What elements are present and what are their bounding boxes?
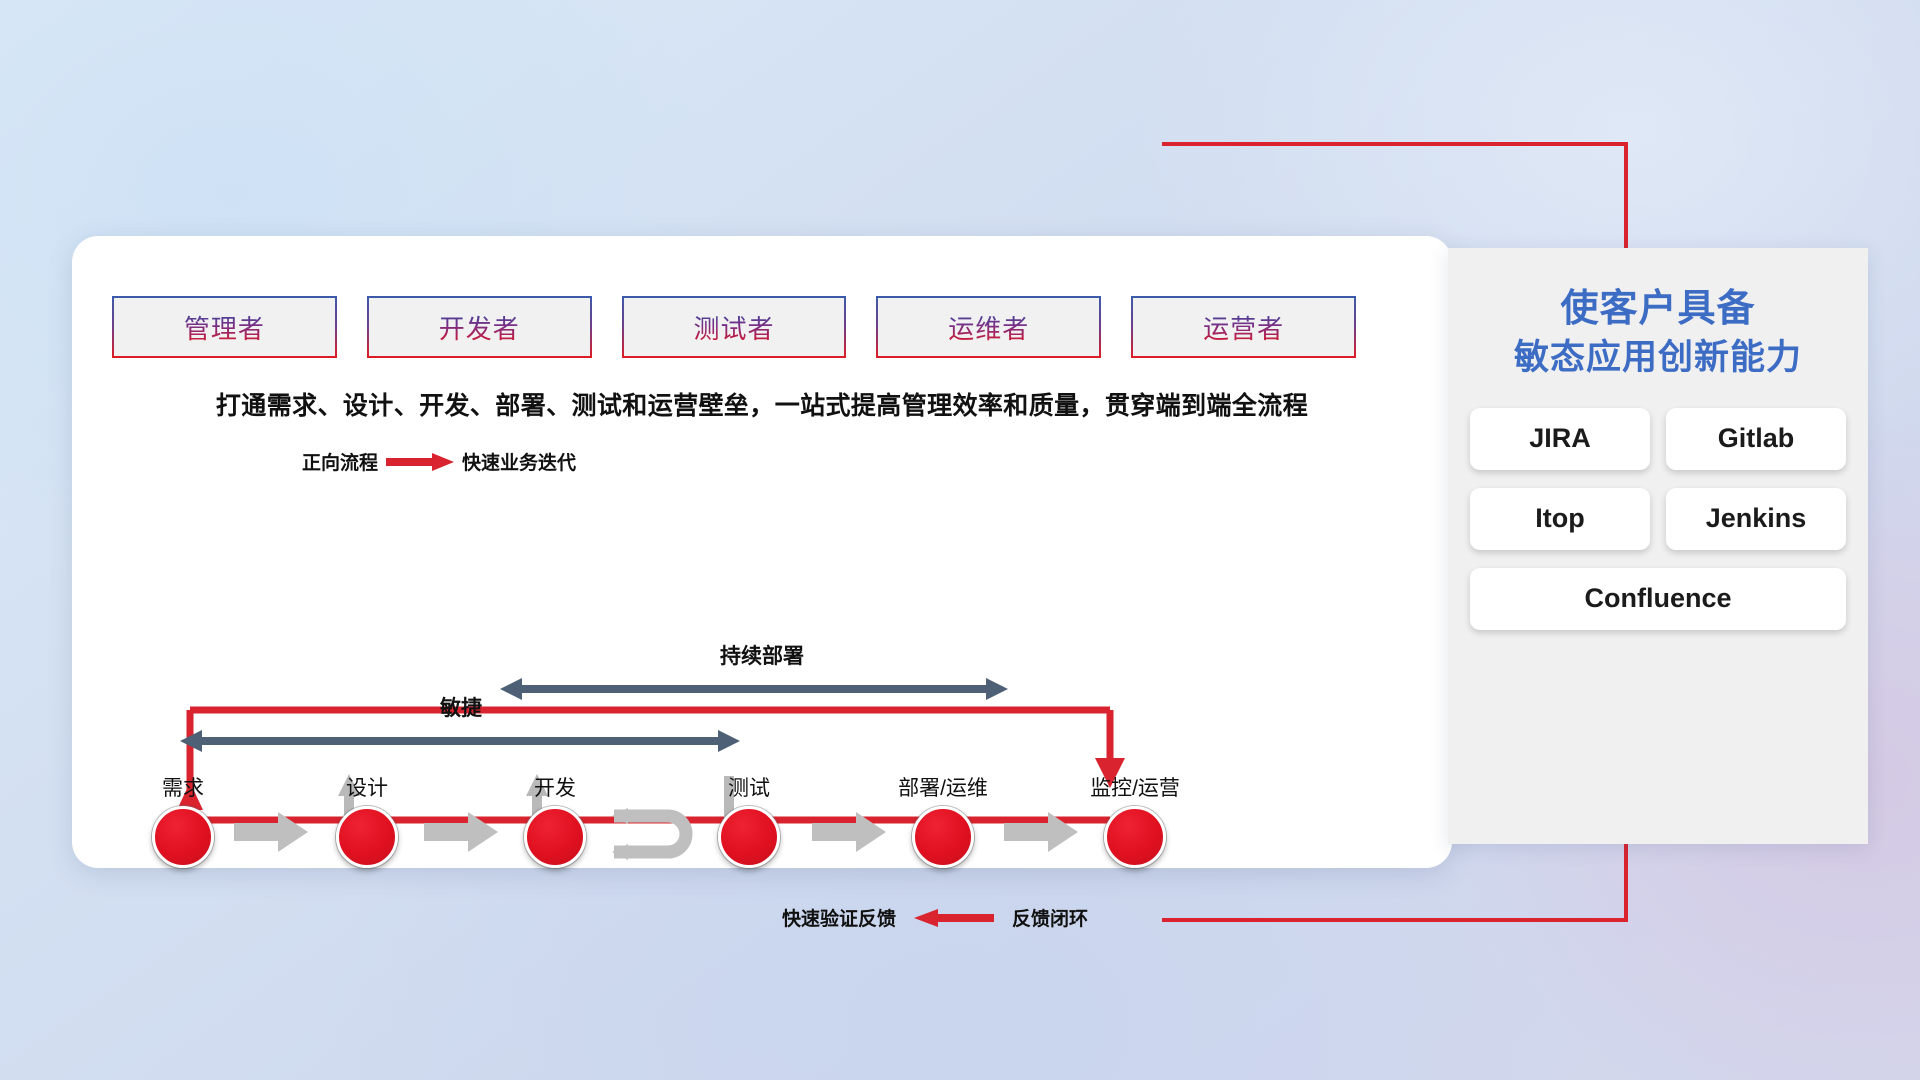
role-box-manager[interactable]: 管理者 (112, 296, 337, 358)
arrow-right-red-icon (386, 453, 454, 471)
roles-row: 管理者 开发者 测试者 运维者 运营者 (112, 296, 1356, 358)
legend-forward-target-label: 快速业务迭代 (462, 448, 576, 475)
tool-chip-jenkins[interactable]: Jenkins (1666, 488, 1846, 550)
stage-label: 部署/运维 (878, 772, 1008, 802)
role-box-business-operations[interactable]: 运营者 (1131, 296, 1356, 358)
role-label: 管理者 (184, 309, 265, 346)
connector-arrow-icon (812, 812, 886, 852)
connector-arrow-icon (424, 812, 498, 852)
pipeline-stage-deploy-ops[interactable]: 部署/运维 (878, 772, 1008, 868)
role-label: 运维者 (948, 309, 1029, 346)
role-box-developer[interactable]: 开发者 (367, 296, 592, 358)
pipeline-stage-monitor-operate[interactable]: 监控/运营 (1070, 772, 1200, 868)
tool-chip-gitlab[interactable]: Gitlab (1666, 408, 1846, 470)
tool-chip-itop[interactable]: Itop (1470, 488, 1650, 550)
pipeline-stage-develop[interactable]: 开发 (490, 772, 620, 868)
stage-dot (524, 806, 586, 868)
panel-title-line2: 敏态应用创新能力 (1470, 335, 1846, 382)
role-label: 开发者 (439, 309, 520, 346)
panel-title: 使客户具备 敏态应用创新能力 (1470, 284, 1846, 382)
arrow-continuous-deployment-icon (500, 678, 1008, 700)
stage-dot (718, 806, 780, 868)
legend-feedback-loop: 快速验证反馈 反馈闭环 (782, 904, 1088, 931)
pipeline-row: 需求 设计 开发 测试 部署/运维 监控/运营 (118, 772, 1408, 892)
legend-feedback-target-label: 快速验证反馈 (782, 904, 896, 931)
stage-dot (152, 806, 214, 868)
stage-label: 开发 (490, 772, 620, 802)
arrow-left-red-icon (914, 909, 994, 927)
connector-arrow-icon (1004, 812, 1078, 852)
tool-chip-grid: JIRA Gitlab Itop Jenkins Confluence (1470, 408, 1846, 630)
label-continuous-deployment: 持续部署 (720, 640, 804, 670)
stage-dot (1104, 806, 1166, 868)
headline-text: 打通需求、设计、开发、部署、测试和运营壁垒，一站式提高管理效率和质量，贯穿端到端… (72, 386, 1452, 422)
role-box-operations[interactable]: 运维者 (876, 296, 1101, 358)
stage-dot (336, 806, 398, 868)
tool-chip-jira[interactable]: JIRA (1470, 408, 1650, 470)
role-box-tester[interactable]: 测试者 (622, 296, 847, 358)
legend-forward-source-label: 正向流程 (302, 448, 378, 475)
role-label: 运营者 (1203, 309, 1284, 346)
panel-title-line1: 使客户具备 (1470, 284, 1846, 335)
pipeline-stage-requirements[interactable]: 需求 (118, 772, 248, 868)
pipeline-stage-design[interactable]: 设计 (302, 772, 432, 868)
stage-label: 需求 (118, 772, 248, 802)
slide-canvas: 管理者 开发者 测试者 运维者 运营者 打通需求、设计、开发、部署、测试和运营壁… (0, 0, 1920, 1080)
stage-label: 监控/运营 (1070, 772, 1200, 802)
value-proposition-panel: 使客户具备 敏态应用创新能力 JIRA Gitlab Itop Jenkins … (1448, 248, 1868, 844)
legend-feedback-source-label: 反馈闭环 (1012, 904, 1088, 931)
connector-arrow-icon (234, 812, 308, 852)
label-agile: 敏捷 (440, 692, 482, 722)
role-label: 测试者 (693, 309, 774, 346)
arrow-agile-icon (180, 730, 740, 752)
main-content-card: 管理者 开发者 测试者 运维者 运营者 打通需求、设计、开发、部署、测试和运营壁… (72, 236, 1452, 868)
stage-label: 测试 (684, 772, 814, 802)
iteration-loop-arrow-icon (610, 806, 706, 862)
tool-chip-confluence[interactable]: Confluence (1470, 568, 1846, 630)
stage-label: 设计 (302, 772, 432, 802)
stage-dot (912, 806, 974, 868)
legend-forward-flow: 正向流程 快速业务迭代 (302, 448, 576, 475)
